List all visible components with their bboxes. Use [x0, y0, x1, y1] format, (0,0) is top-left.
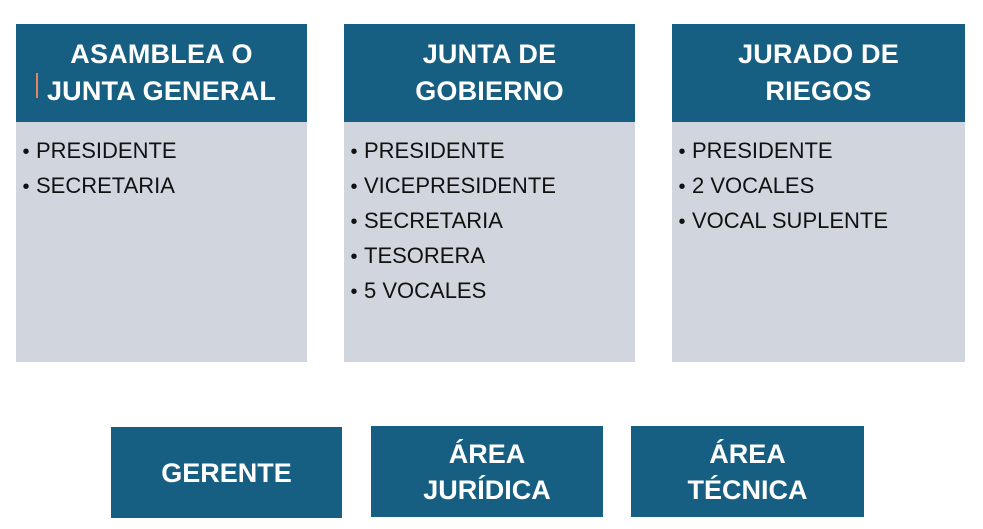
card-title-line-2: RIEGOS: [765, 73, 871, 110]
staff-box-line-2: JURÍDICA: [423, 472, 551, 508]
staff-box-area-juridica[interactable]: ÁREA JURÍDICA: [371, 426, 603, 517]
list-item[interactable]: • TESORERA: [344, 239, 635, 274]
bullet-icon: •: [672, 205, 692, 239]
bullet-icon: •: [16, 135, 36, 169]
member-label: PRESIDENTE: [36, 134, 177, 168]
bullet-icon: •: [344, 275, 364, 309]
bullet-icon: •: [16, 170, 36, 204]
governance-card-jurado-riegos[interactable]: JURADO DE RIEGOS • PRESIDENTE • 2 VOCALE…: [672, 24, 965, 362]
staff-box-line-1: ÁREA: [709, 436, 786, 472]
card-header-jurado-riegos: JURADO DE RIEGOS: [672, 24, 965, 122]
member-label: PRESIDENTE: [364, 134, 505, 168]
list-item[interactable]: • PRESIDENTE: [344, 134, 635, 169]
list-item[interactable]: • PRESIDENTE: [16, 134, 307, 169]
list-item[interactable]: • VOCAL SUPLENTE: [672, 204, 965, 239]
staff-box-gerente[interactable]: GERENTE: [111, 427, 342, 518]
member-label: 2 VOCALES: [692, 169, 814, 203]
list-item[interactable]: • SECRETARIA: [344, 204, 635, 239]
governance-card-junta-gobierno[interactable]: JUNTA DE GOBIERNO • PRESIDENTE • VICEPRE…: [344, 24, 635, 362]
staff-box-line-1: GERENTE: [161, 455, 292, 491]
staff-box-area-tecnica[interactable]: ÁREA TÉCNICA: [631, 426, 864, 517]
card-body-junta-gobierno: • PRESIDENTE • VICEPRESIDENTE • SECRETAR…: [344, 122, 635, 362]
list-item[interactable]: • 2 VOCALES: [672, 169, 965, 204]
bullet-icon: •: [344, 170, 364, 204]
member-label: SECRETARIA: [364, 204, 503, 238]
card-body-jurado-riegos: • PRESIDENTE • 2 VOCALES • VOCAL SUPLENT…: [672, 122, 965, 362]
member-list-junta-gobierno: • PRESIDENTE • VICEPRESIDENTE • SECRETAR…: [344, 134, 635, 309]
bullet-icon: •: [344, 240, 364, 274]
list-item[interactable]: • PRESIDENTE: [672, 134, 965, 169]
member-list-asamblea: • PRESIDENTE • SECRETARIA: [16, 134, 307, 204]
organizational-chart: ASAMBLEA O JUNTA GENERAL • PRESIDENTE • …: [0, 0, 983, 529]
card-title-line-1: JUNTA DE: [423, 36, 557, 73]
member-label: 5 VOCALES: [364, 274, 486, 308]
bullet-icon: •: [672, 135, 692, 169]
text-cursor-caret: [36, 73, 38, 98]
card-header-junta-gobierno: JUNTA DE GOBIERNO: [344, 24, 635, 122]
governance-card-asamblea[interactable]: ASAMBLEA O JUNTA GENERAL • PRESIDENTE • …: [16, 24, 307, 362]
member-label: PRESIDENTE: [692, 134, 833, 168]
staff-box-line-1: ÁREA: [449, 436, 526, 472]
member-label: VICEPRESIDENTE: [364, 169, 556, 203]
card-title-line-2: GOBIERNO: [415, 73, 564, 110]
member-label: VOCAL SUPLENTE: [692, 204, 888, 238]
list-item[interactable]: • 5 VOCALES: [344, 274, 635, 309]
card-title-line-1: ASAMBLEA O: [70, 36, 253, 73]
staff-box-line-2: TÉCNICA: [688, 472, 808, 508]
list-item[interactable]: • SECRETARIA: [16, 169, 307, 204]
bullet-icon: •: [344, 205, 364, 239]
card-body-asamblea: • PRESIDENTE • SECRETARIA: [16, 122, 307, 362]
member-label: SECRETARIA: [36, 169, 175, 203]
card-header-asamblea: ASAMBLEA O JUNTA GENERAL: [16, 24, 307, 122]
bullet-icon: •: [672, 170, 692, 204]
member-label: TESORERA: [364, 239, 485, 273]
card-title-line-2: JUNTA GENERAL: [47, 73, 276, 110]
bullet-icon: •: [344, 135, 364, 169]
list-item[interactable]: • VICEPRESIDENTE: [344, 169, 635, 204]
member-list-jurado-riegos: • PRESIDENTE • 2 VOCALES • VOCAL SUPLENT…: [672, 134, 965, 239]
card-title-line-1: JURADO DE: [738, 36, 899, 73]
